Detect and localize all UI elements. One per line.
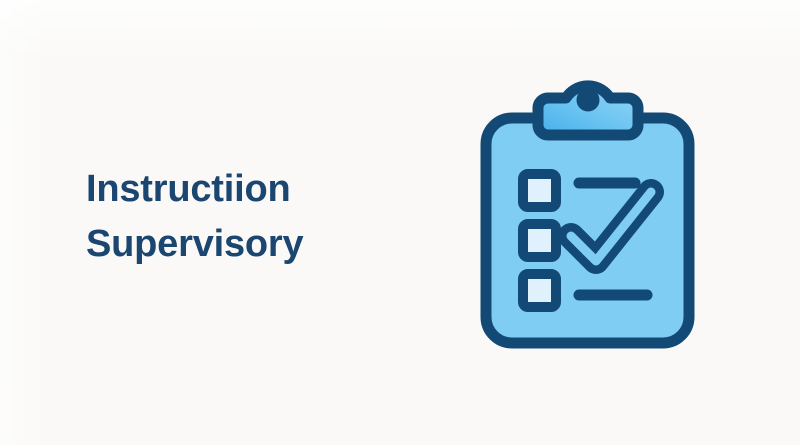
checkbox-1 xyxy=(523,174,556,207)
clipboard-clip xyxy=(538,86,638,135)
page-title-line-2: Supervisory xyxy=(86,217,426,272)
checkbox-2 xyxy=(523,224,556,257)
clipboard-body xyxy=(486,118,689,343)
checkbox-3 xyxy=(523,274,556,307)
clip-ring xyxy=(578,90,599,111)
slide-canvas: Instructiion Supervisory xyxy=(0,0,800,445)
clipboard-checklist-icon xyxy=(470,78,705,358)
checkbox-group xyxy=(523,174,556,307)
page-title: Instructiion Supervisory xyxy=(86,162,426,272)
page-title-line-1: Instructiion xyxy=(86,162,426,217)
